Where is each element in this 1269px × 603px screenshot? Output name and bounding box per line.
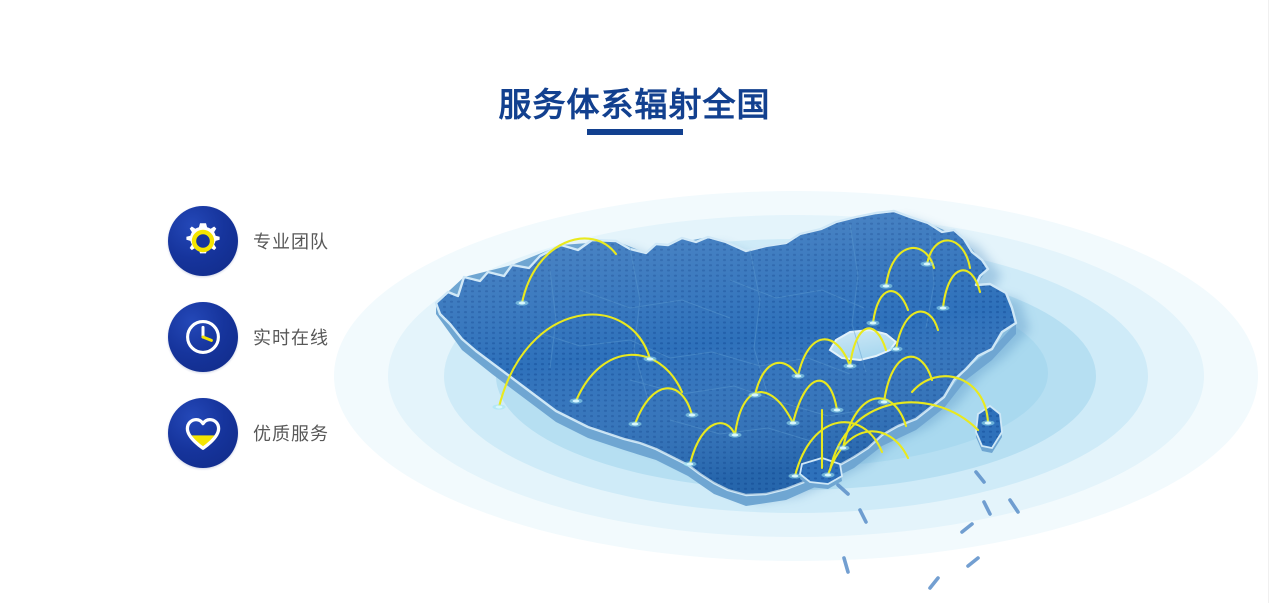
map-node[interactable] — [496, 406, 503, 409]
map-node[interactable] — [732, 434, 739, 437]
feature-label: 专业团队 — [253, 228, 329, 254]
title-underline — [587, 129, 683, 135]
page-title-block: 服务体系辐射全国 — [0, 84, 1269, 126]
clock-icon — [168, 302, 238, 372]
map-node[interactable] — [790, 422, 797, 425]
map-node[interactable] — [792, 475, 799, 478]
china-service-map — [330, 180, 1269, 603]
map-node[interactable] — [840, 447, 847, 450]
map-node[interactable] — [632, 423, 639, 426]
map-node[interactable] — [881, 401, 888, 404]
map-node[interactable] — [795, 375, 802, 378]
feature-label: 实时在线 — [253, 324, 329, 350]
gear-icon — [168, 206, 238, 276]
map-node[interactable] — [689, 414, 696, 417]
map-node[interactable] — [687, 463, 694, 466]
feature-label: 优质服务 — [253, 420, 329, 446]
map-node[interactable] — [893, 348, 900, 351]
heart-icon — [168, 398, 238, 468]
page-canvas: 服务体系辐射全国 专业团队 — [0, 0, 1269, 603]
map-node[interactable] — [940, 307, 947, 310]
map-node[interactable] — [847, 365, 854, 368]
map-node[interactable] — [825, 474, 832, 477]
map-node[interactable] — [519, 302, 526, 305]
page-title: 服务体系辐射全国 — [499, 84, 771, 126]
map-node[interactable] — [924, 263, 931, 266]
map-node[interactable] — [834, 409, 841, 412]
map-node[interactable] — [647, 358, 654, 361]
map-node[interactable] — [870, 322, 877, 325]
map-node[interactable] — [883, 285, 890, 288]
map-node[interactable] — [752, 394, 759, 397]
map-node[interactable] — [985, 422, 992, 425]
map-node[interactable] — [573, 400, 580, 403]
